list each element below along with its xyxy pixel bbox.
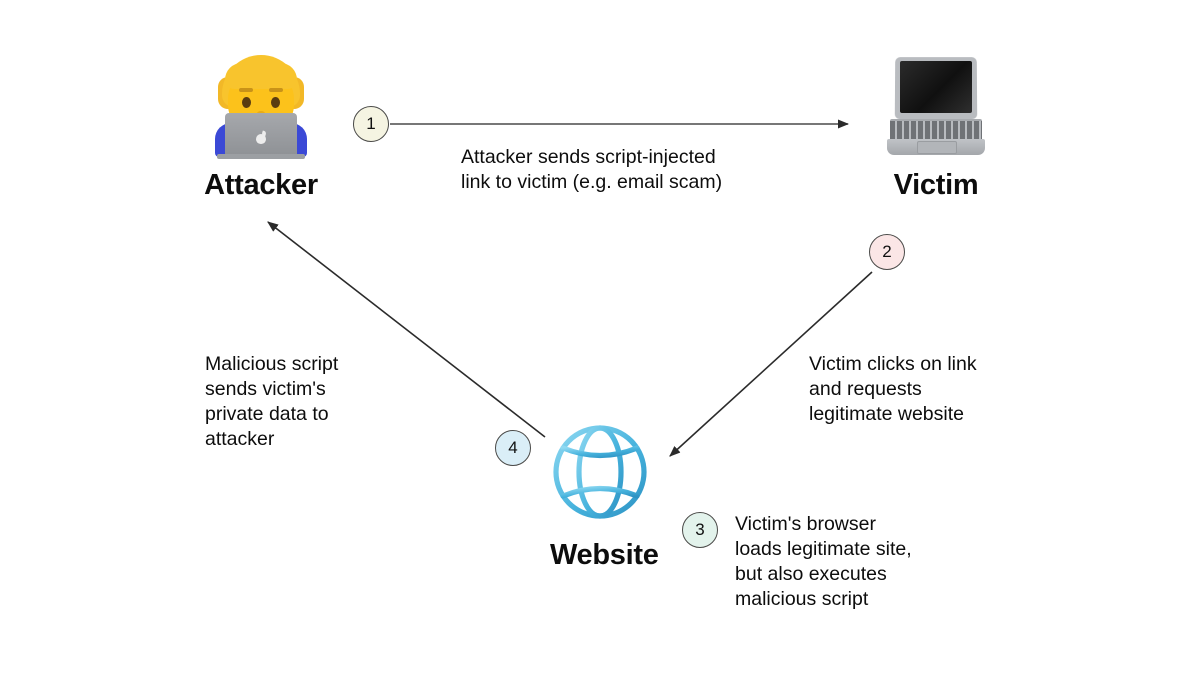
node-label-attacker: Attacker — [180, 169, 342, 202]
node-attacker[interactable]: Attacker — [180, 55, 342, 202]
step-caption-1: Attacker sends script-injected link to v… — [461, 145, 761, 195]
step-circle-4[interactable]: 4 — [495, 430, 531, 466]
step-circle-3[interactable]: 3 — [682, 512, 718, 548]
step-circle-1[interactable]: 1 — [353, 106, 389, 142]
laptop-icon — [886, 55, 986, 155]
step-caption-3: Victim's browser loads legitimate site, … — [735, 512, 945, 612]
node-website[interactable]: Website — [550, 423, 650, 572]
node-victim[interactable]: Victim — [886, 55, 986, 202]
step-circle-2[interactable]: 2 — [869, 234, 905, 270]
step-caption-4: Malicious script sends victim's private … — [205, 352, 405, 452]
node-label-website: Website — [550, 539, 650, 572]
man-technologist-icon — [203, 55, 319, 157]
diagram-canvas: Attacker Victim — [0, 0, 1200, 680]
globe-icon — [550, 423, 650, 521]
step-caption-2: Victim clicks on link and requests legit… — [809, 352, 1019, 427]
node-label-victim: Victim — [886, 169, 986, 202]
